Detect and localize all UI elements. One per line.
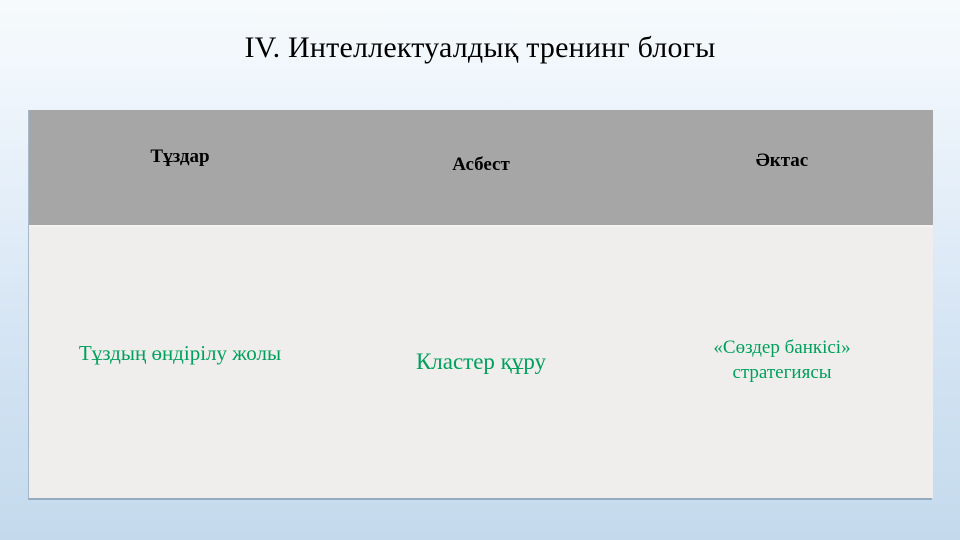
column-header-limestone: Әктас	[631, 110, 933, 226]
table-header-row: Тұздар Асбест Әктас	[29, 110, 933, 226]
table-cell-word-bank-strategy: «Сөздер банкісі» стратегиясы	[631, 226, 933, 498]
page-title: IV. Интеллектуалдық тренинг блогы	[0, 30, 960, 66]
table-body: Тұздың өндірілу жолы Кластер құру «Сөзде…	[29, 226, 933, 498]
column-header-salts: Тұздар	[29, 110, 331, 226]
slide-canvas: IV. Интеллектуалдық тренинг блогы Тұздар…	[0, 0, 960, 540]
table-cell-salt-production-method: Тұздың өндірілу жолы	[29, 226, 331, 498]
content-table: Тұздар Асбест Әктас Тұздың өндірілу жолы…	[29, 110, 933, 498]
word-bank-strategy-line-2: стратегиясы	[641, 361, 923, 385]
column-header-asbestos: Асбест	[331, 110, 631, 226]
table-cell-cluster-building: Кластер құру	[331, 226, 631, 498]
content-table-container: Тұздар Асбест Әктас Тұздың өндірілу жолы…	[28, 110, 932, 500]
table-header: Тұздар Асбест Әктас	[29, 110, 933, 226]
word-bank-strategy-line-1: «Сөздер банкісі»	[641, 336, 923, 360]
table-row: Тұздың өндірілу жолы Кластер құру «Сөзде…	[29, 226, 933, 498]
